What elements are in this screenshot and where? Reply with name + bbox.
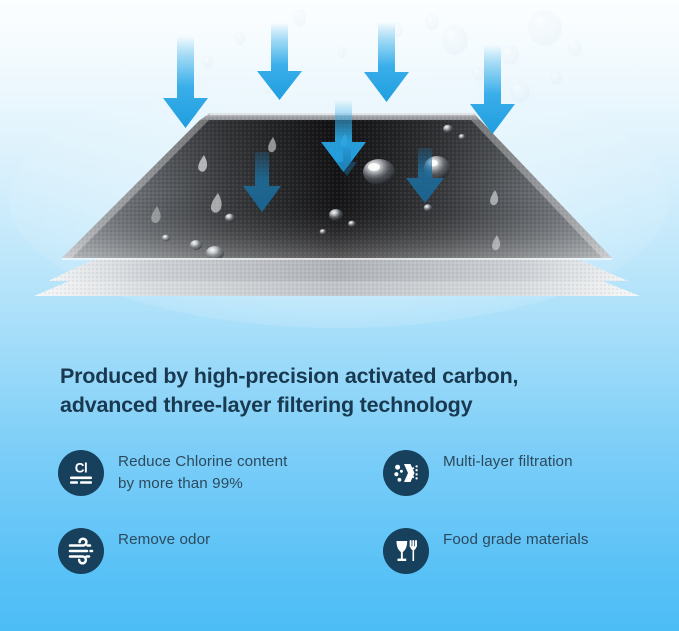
feature-label: Multi-layer filtration: [443, 448, 573, 473]
filter-illustration: [0, 0, 679, 330]
feature-label: Food grade materials: [443, 526, 589, 551]
food-grade-icon: [383, 528, 429, 574]
chlorine-icon: Cl: [58, 450, 104, 496]
remove-odor-icon: [58, 528, 104, 574]
feature-label-line-1: Remove odor: [118, 531, 210, 548]
feature-label: Reduce Chlorine content by more than 99%: [118, 448, 287, 494]
headline-line-2: advanced three-layer filtering technolog…: [60, 391, 620, 420]
feature-label: Remove odor: [118, 526, 210, 551]
feature-label-line-1: Reduce Chlorine content: [118, 453, 287, 470]
headline-line-1: Produced by high-precision activated car…: [60, 362, 620, 391]
multi-layer-filtration-icon: [383, 450, 429, 496]
feature-label-line-1: Multi-layer filtration: [443, 453, 573, 470]
svg-text:Cl: Cl: [75, 461, 88, 476]
feature-item-multi-layer-filtration: Multi-layer filtration: [383, 448, 658, 526]
feature-item-food-grade: Food grade materials: [383, 526, 658, 604]
feature-label-line-1: Food grade materials: [443, 531, 589, 548]
page-headline: Produced by high-precision activated car…: [60, 362, 620, 419]
feature-label-line-2: by more than 99%: [118, 473, 287, 495]
feature-item-remove-odor: Remove odor: [58, 526, 383, 604]
feature-list: Cl Reduce Chlorine content by more than …: [58, 448, 658, 604]
feature-item-reduce-chlorine: Cl Reduce Chlorine content by more than …: [58, 448, 383, 526]
